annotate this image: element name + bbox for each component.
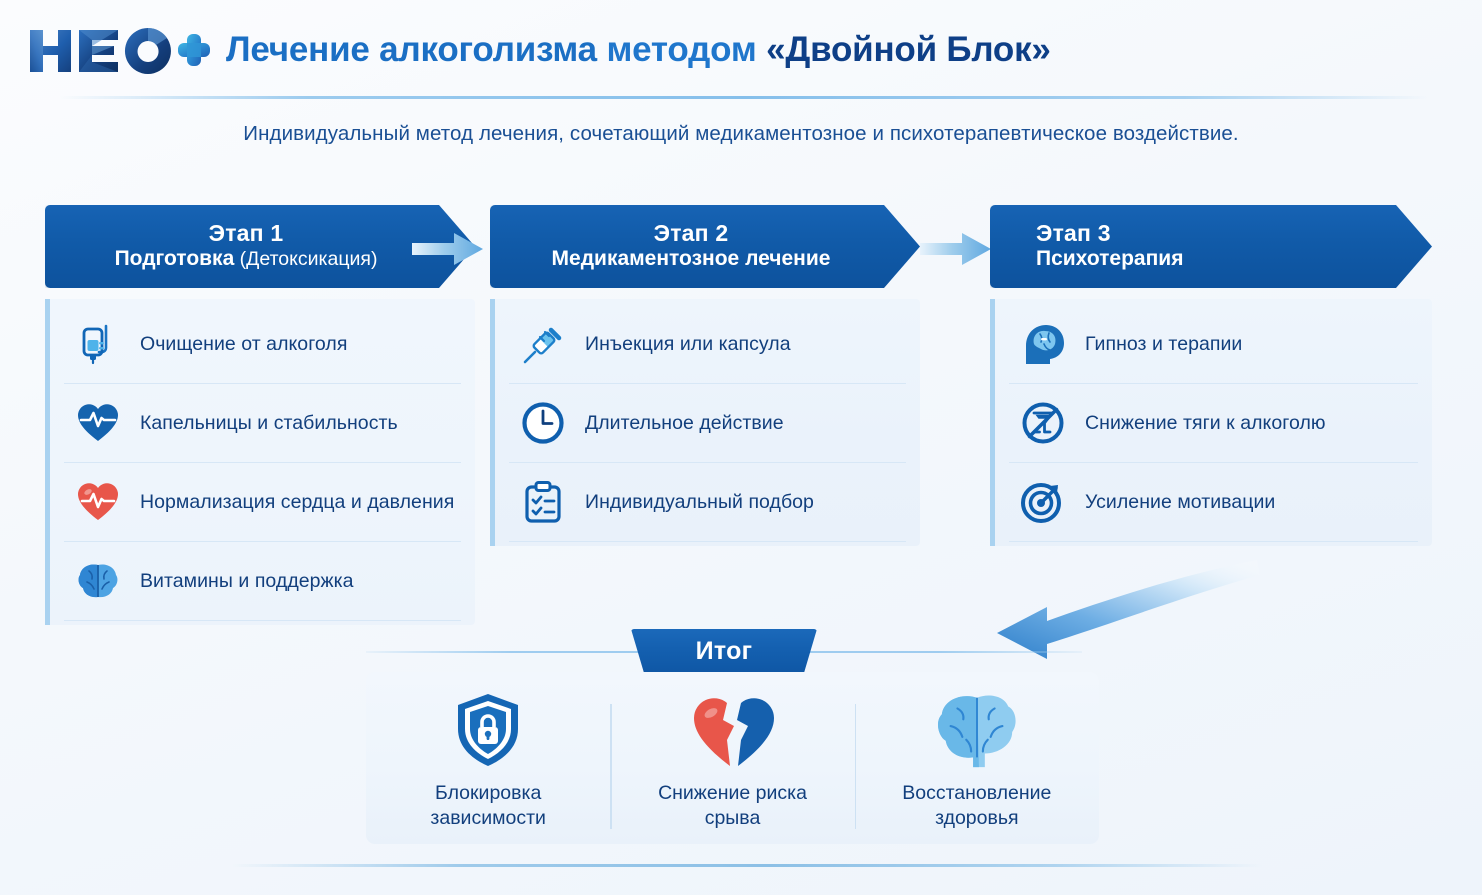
result-card[interactable]: Восстановление здоровья	[855, 688, 1099, 832]
stage-card-1: Этап 1 Подготовка (Детоксикация) Очищ	[45, 205, 475, 625]
feature-label: Очищение от алкоголя	[140, 333, 347, 356]
stage-header-3[interactable]: Этап 3 Психотерапия	[990, 205, 1432, 288]
feature-label: Снижение тяги к алкоголю	[1085, 412, 1326, 435]
stage-name-bold-3: Психотерапия	[1036, 247, 1183, 270]
feature-label: Инъекция или капсула	[585, 333, 791, 356]
result-panel: Блокировка зависимости Снижение риска ср…	[366, 672, 1099, 844]
title-part-1: Лечение алкоголизма	[226, 30, 606, 69]
brain-icon	[74, 557, 122, 605]
stage-name-2: Медикаментозное лечение	[552, 247, 831, 272]
stage-name-rest-1: (Детоксикация)	[234, 248, 377, 270]
heart-pulse-blue-icon	[74, 399, 122, 447]
feature-item[interactable]: Очищение от алкоголя	[64, 305, 461, 384]
stage-body-3: Гипноз и терапии Снижение тяги к алкогол…	[990, 299, 1432, 546]
brain-recovery-icon	[934, 688, 1020, 772]
stage-connector-arrow-1	[412, 232, 484, 266]
feature-label: Длительное действие	[585, 412, 784, 435]
feature-item[interactable]: Инъекция или капсула	[509, 305, 906, 384]
header-divider	[60, 96, 1430, 99]
stage-body-2: Инъекция или капсула Длительное действие	[490, 299, 920, 546]
result-label: Блокировка зависимости	[430, 781, 546, 832]
footer-divider	[232, 864, 1262, 867]
stage-connector-arrow-2	[920, 232, 992, 266]
feature-label: Нормализация сердца и давления	[140, 491, 454, 514]
result-label: Снижение риска срыва	[658, 781, 807, 832]
stage-number-1: Этап 1	[209, 221, 284, 247]
result-card[interactable]: Снижение риска срыва	[610, 688, 854, 832]
stage-name-1: Подготовка (Детоксикация)	[115, 247, 378, 272]
feature-item[interactable]: Индивидуальный подбор	[509, 463, 906, 542]
feature-label: Витамины и поддержка	[140, 570, 354, 593]
stage-card-3: Этап 3 Психотерапия Гипноз и терапии	[990, 205, 1432, 546]
feature-label: Усиление мотивации	[1085, 491, 1275, 514]
feature-item[interactable]: Усиление мотивации	[1009, 463, 1418, 542]
stage-name-bold-1: Подготовка	[115, 247, 235, 270]
result-label: Восстановление здоровья	[902, 781, 1051, 832]
feature-item[interactable]: Нормализация сердца и давления	[64, 463, 461, 542]
clipboard-checklist-icon	[519, 478, 567, 526]
feature-item[interactable]: Гипноз и терапии	[1009, 305, 1418, 384]
feature-label: Капельницы и стабильность	[140, 412, 398, 435]
shield-lock-icon	[445, 688, 531, 772]
head-brain-icon	[1019, 320, 1067, 368]
heart-pulse-red-icon	[74, 478, 122, 526]
feature-label: Гипноз и терапии	[1085, 333, 1242, 356]
feature-label: Индивидуальный подбор	[585, 491, 814, 514]
stage-name-3: Психотерапия	[1036, 247, 1183, 272]
stage-name-bold-2: Медикаментозное лечение	[552, 247, 831, 270]
clock-icon	[519, 399, 567, 447]
stage-number-2: Этап 2	[654, 221, 729, 247]
broken-heart-icon	[689, 688, 775, 772]
page-title: Лечение алкоголизма методом «Двойной Бло…	[226, 32, 1051, 67]
page-subtitle: Индивидуальный метод лечения, сочетающий…	[0, 122, 1482, 146]
iv-drip-icon	[74, 320, 122, 368]
no-alcohol-glass-icon	[1019, 399, 1067, 447]
feature-item[interactable]: Капельницы и стабильность	[64, 384, 461, 463]
title-part-2: методом	[606, 30, 766, 69]
feature-item[interactable]: Длительное действие	[509, 384, 906, 463]
feature-item[interactable]: Витамины и поддержка	[64, 542, 461, 621]
neo-plus-logo	[26, 22, 212, 78]
stage-number-3: Этап 3	[1036, 221, 1111, 247]
page-header: Лечение алкоголизма методом «Двойной Бло…	[0, 0, 1482, 99]
target-arrow-icon	[1019, 478, 1067, 526]
feature-item[interactable]: Снижение тяги к алкоголю	[1009, 384, 1418, 463]
syringe-icon	[519, 320, 567, 368]
stage-card-2: Этап 2 Медикаментозное лечение Инъекция …	[490, 205, 920, 546]
stage-header-1[interactable]: Этап 1 Подготовка (Детоксикация)	[45, 205, 475, 288]
curved-arrow-left-icon	[985, 548, 1265, 668]
stage-header-2[interactable]: Этап 2 Медикаментозное лечение	[490, 205, 920, 288]
title-part-3: «Двойной Блок»	[766, 30, 1051, 69]
result-card[interactable]: Блокировка зависимости	[366, 688, 610, 832]
result-badge[interactable]: Итог	[631, 629, 817, 673]
stage-body-1: Очищение от алкоголя Капельницы и стабил…	[45, 299, 475, 625]
